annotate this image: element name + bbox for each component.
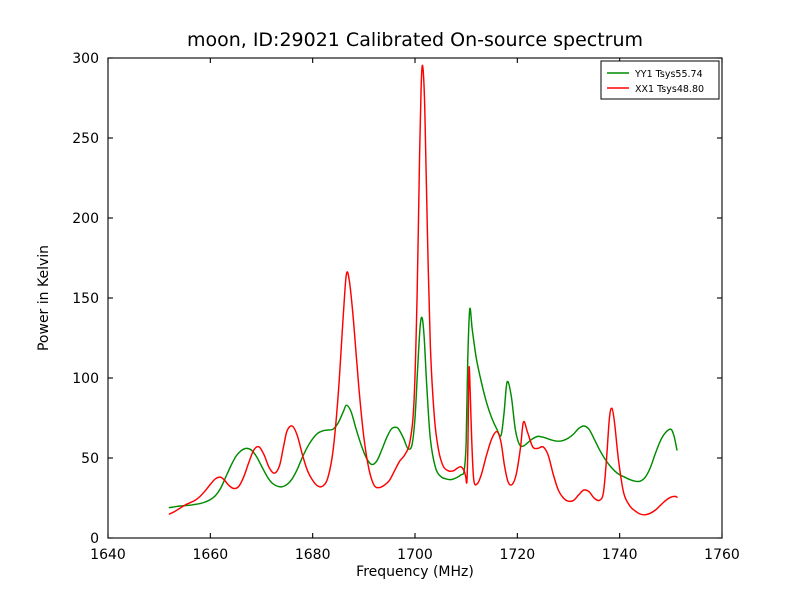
x-tick-label: 1680: [295, 547, 331, 563]
x-tick-label: 1720: [500, 547, 536, 563]
y-axis-ticks: 050100150200250300: [72, 51, 722, 547]
y-tick-label: 50: [81, 451, 99, 467]
y-tick-label: 150: [72, 291, 99, 307]
y-tick-label: 200: [72, 211, 99, 227]
x-tick-label: 1700: [397, 547, 433, 563]
x-axis-ticks: 1640166016801700172017401760: [90, 58, 740, 563]
figure-canvas: moon, ID:29021 Calibrated On-source spec…: [0, 0, 800, 600]
legend-label-1[interactable]: XX1 Tsys48.80: [635, 84, 704, 95]
y-tick-label: 0: [90, 531, 99, 547]
y-tick-label: 250: [72, 131, 99, 147]
series-line-yy1: [169, 308, 677, 507]
x-tick-label: 1660: [193, 547, 229, 563]
spectrum-chart: moon, ID:29021 Calibrated On-source spec…: [0, 0, 800, 600]
chart-legend[interactable]: YY1 Tsys55.74XX1 Tsys48.80: [601, 61, 719, 99]
series-line-xx1: [169, 65, 677, 514]
y-tick-label: 300: [72, 51, 99, 67]
legend-label-0[interactable]: YY1 Tsys55.74: [634, 69, 703, 80]
x-axis-label: Frequency (MHz): [356, 564, 474, 580]
x-tick-label: 1640: [90, 547, 126, 563]
x-tick-label: 1740: [602, 547, 638, 563]
plot-frame: [108, 58, 722, 538]
x-tick-label: 1760: [704, 547, 740, 563]
chart-title: moon, ID:29021 Calibrated On-source spec…: [187, 29, 643, 51]
y-axis-label: Power in Kelvin: [36, 245, 52, 351]
data-series-group: [169, 65, 677, 514]
y-tick-label: 100: [72, 371, 99, 387]
